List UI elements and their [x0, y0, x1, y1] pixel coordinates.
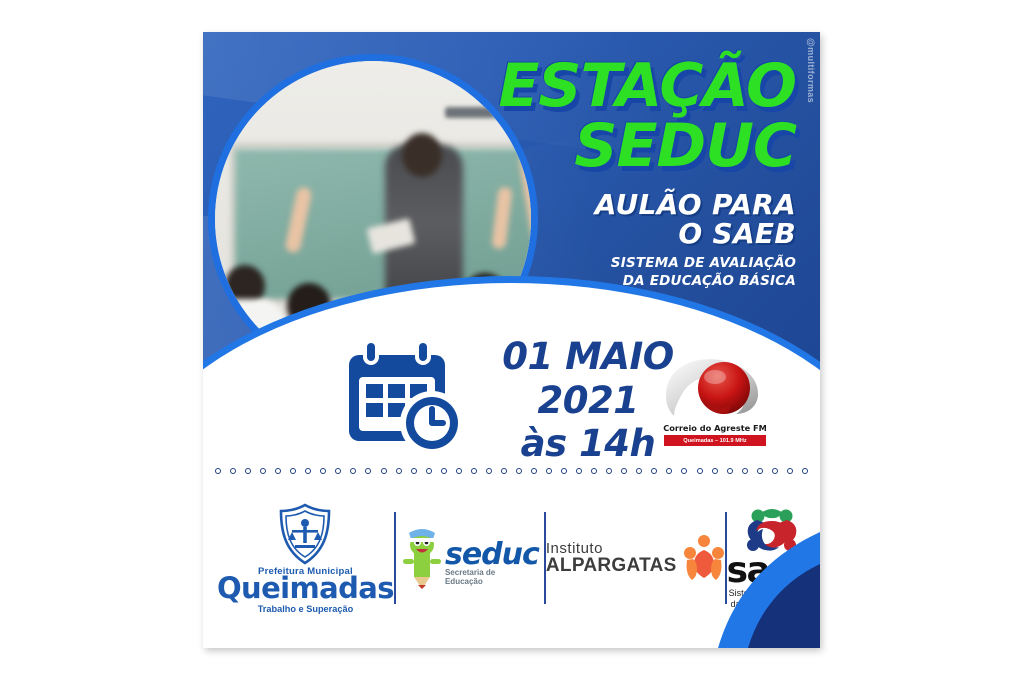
headline-sub-1: AULÃO PARA	[498, 190, 796, 220]
calendar-clock-icon	[337, 335, 467, 460]
watermark-text: @multiformas	[806, 38, 816, 103]
corner-swoosh-decoration	[690, 528, 820, 648]
event-time-line: às 14h	[498, 422, 678, 466]
headline-sub-3: SISTEMA DE AVALIAÇÃO	[498, 254, 796, 272]
sponsor-seduc: seduc Secretaria de Educação	[396, 503, 544, 613]
radio-sponsor-logo: Correio do Agreste FM Queimadas – 101.9 …	[655, 354, 775, 469]
headline-sub-4: DA EDUCAÇÃO BÁSICA	[498, 272, 796, 290]
event-date-line-1: 01 MAIO	[498, 335, 678, 379]
radio-name-text: Correio do Agreste FM	[655, 423, 775, 433]
pencil-mascot-icon	[401, 525, 443, 591]
poster-card: ESTAÇÃO SEDUC AULÃO PARA O SAEB SISTEMA …	[203, 32, 820, 648]
queimadas-name: Queimadas	[217, 574, 394, 603]
headline-block: ESTAÇÃO SEDUC AULÃO PARA O SAEB SISTEMA …	[498, 58, 796, 291]
seduc-sub-2: Educação	[445, 578, 539, 587]
event-date-line-2: 2021	[498, 379, 678, 423]
headline-line-1: ESTAÇÃO	[498, 58, 796, 115]
headline-line-2: SEDUC	[498, 117, 796, 176]
seduc-name: seduc	[445, 541, 539, 568]
alpargatas-line-2: ALPARGATAS	[546, 555, 677, 577]
radio-sphere-icon	[662, 354, 768, 422]
sponsor-queimadas: Prefeitura Municipal Queimadas Trabalho …	[217, 503, 394, 613]
perforation-divider	[215, 464, 808, 478]
queimadas-tagline: Trabalho e Superação	[217, 604, 394, 614]
city-crest-icon	[276, 503, 334, 565]
headline-sub-2: O SAEB	[498, 219, 796, 249]
event-date-block: 01 MAIO 2021 às 14h	[498, 335, 678, 466]
radio-frequency-badge: Queimadas – 101.9 MHz	[664, 435, 766, 446]
